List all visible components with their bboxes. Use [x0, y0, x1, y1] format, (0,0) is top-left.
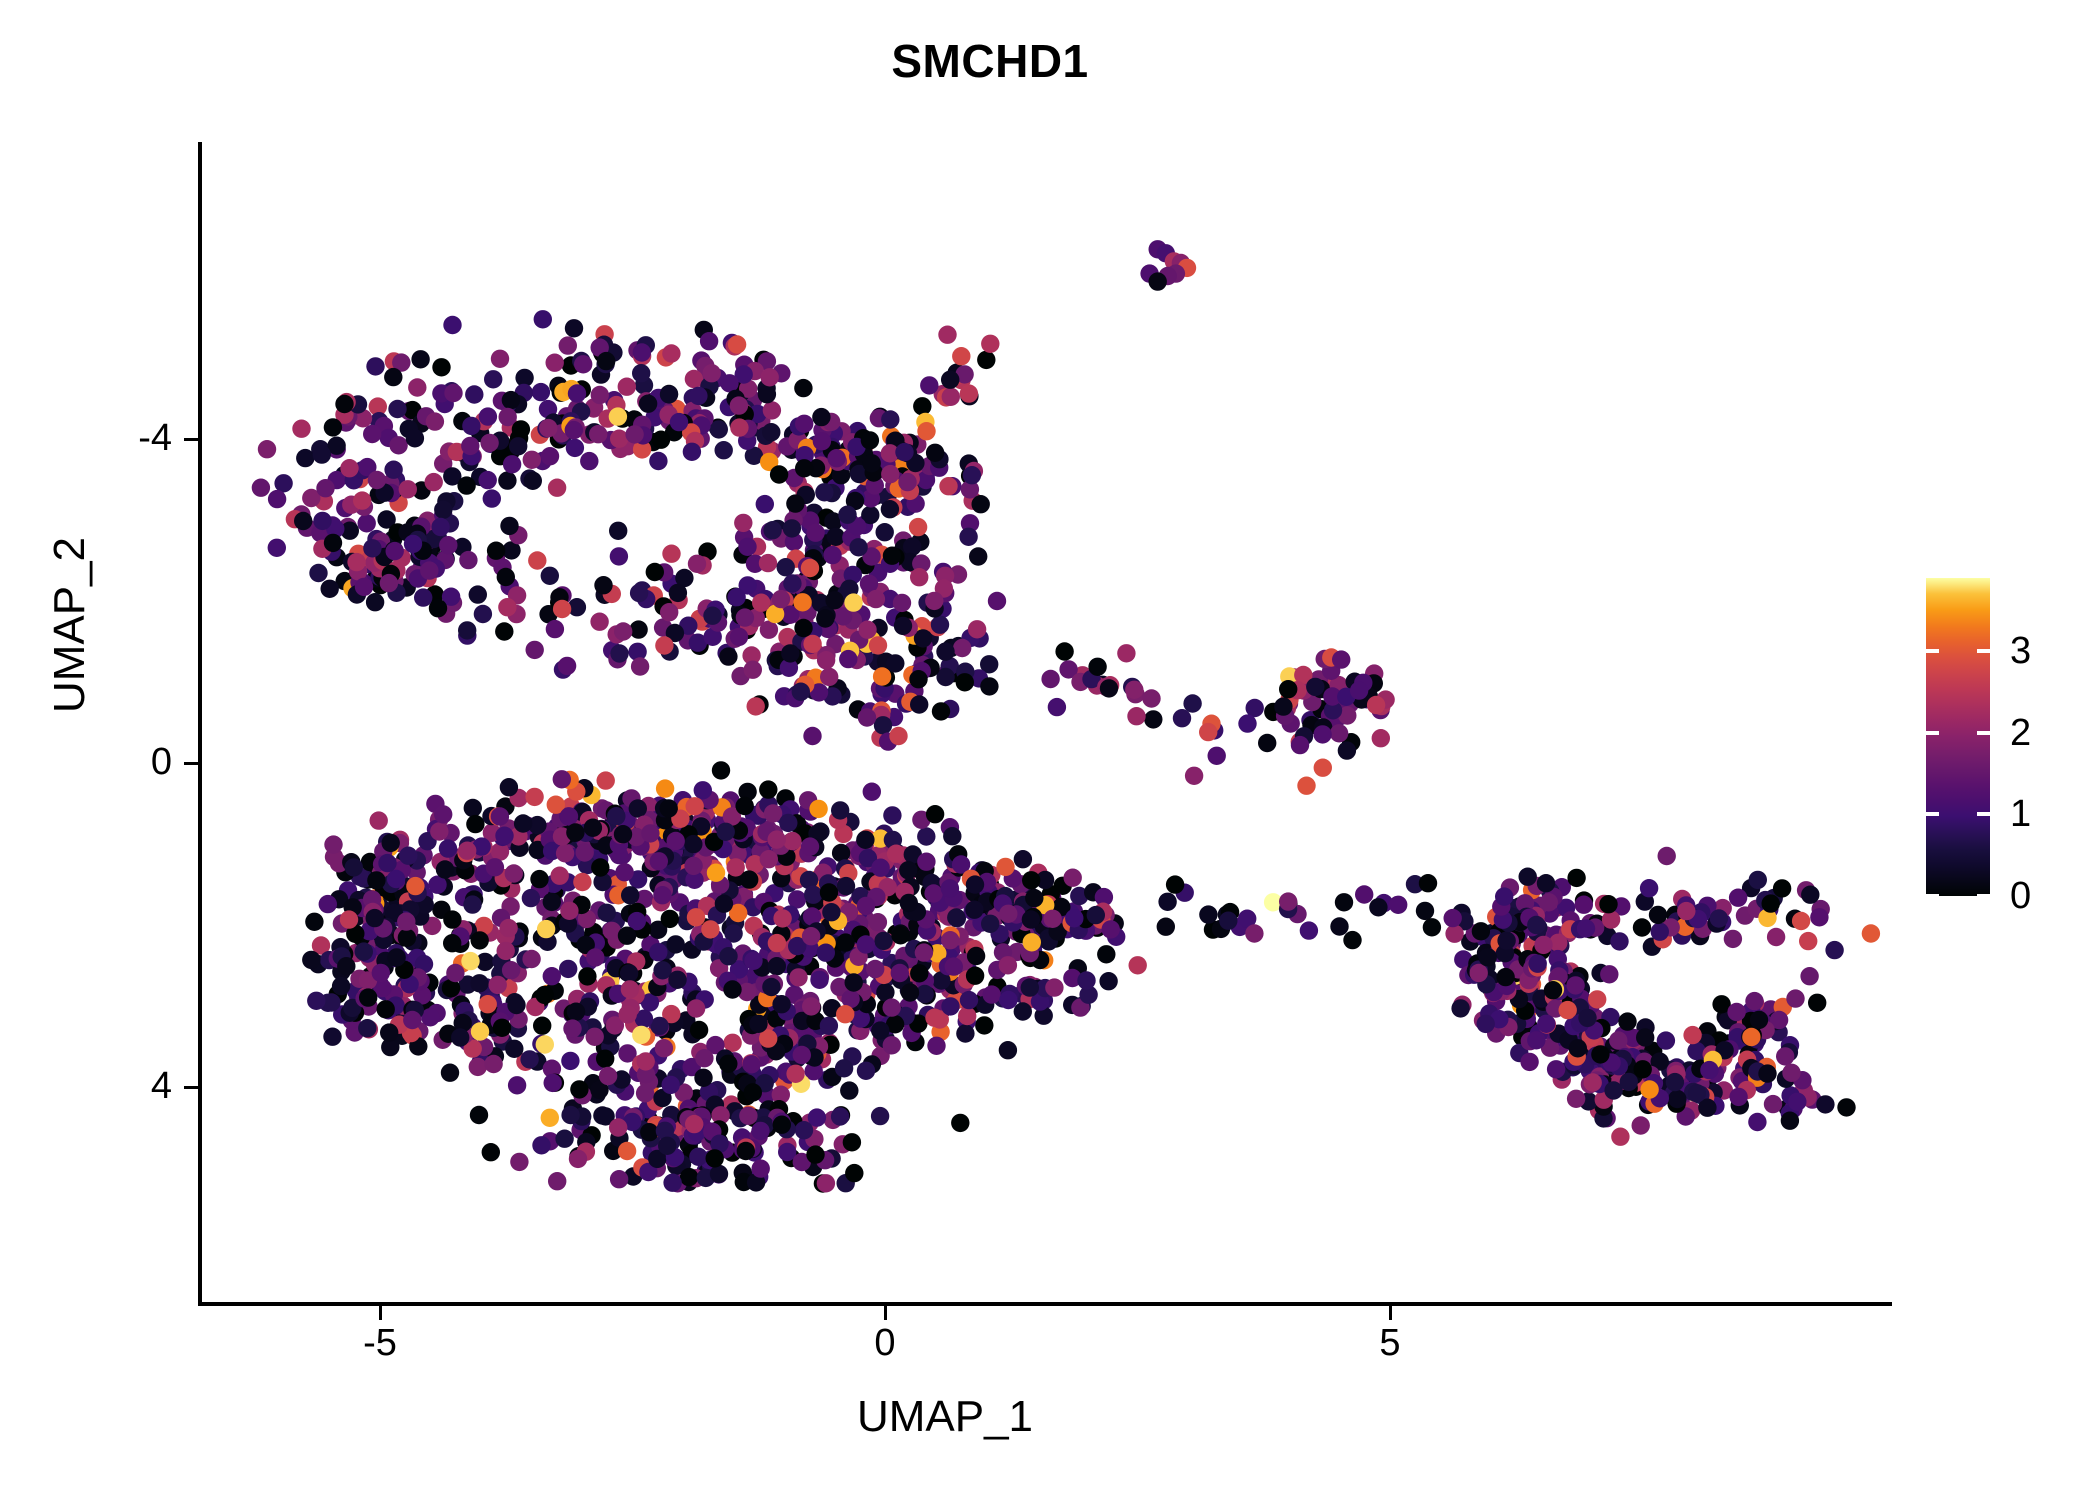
umap-feature-plot: SMCHD1 40-4-505 UMAP_1 UMAP_2 0123: [0, 0, 2100, 1500]
page-title: SMCHD1: [150, 34, 1830, 88]
x-tick-label: 0: [805, 1322, 965, 1365]
plot-panel: [200, 145, 1890, 1302]
legend-tick-mark: [1926, 731, 1939, 735]
legend-tick-label: 1: [2010, 795, 2031, 833]
y-tick-mark: [184, 438, 198, 441]
scatter-points: [200, 145, 1890, 1302]
x-tick-label: -5: [300, 1322, 460, 1365]
x-tick-mark: [379, 1306, 382, 1320]
legend-tick-mark: [1926, 894, 1939, 898]
x-axis-title: UMAP_1: [0, 1392, 1890, 1442]
x-tick-label: 5: [1310, 1322, 1470, 1365]
legend-tick-label: 3: [2010, 632, 2031, 670]
y-tick-mark: [184, 762, 198, 765]
legend-tick-mark: [1977, 649, 1990, 653]
y-tick-label: 4: [52, 1065, 172, 1108]
legend-tick-mark: [1977, 812, 1990, 816]
legend-tick-label: 2: [2010, 714, 2031, 752]
legend-tick-mark: [1977, 894, 1990, 898]
legend-tick-mark: [1926, 649, 1939, 653]
x-tick-mark: [1389, 1306, 1392, 1320]
x-axis-line: [198, 1302, 1892, 1306]
y-axis-title: UMAP_2: [45, 325, 95, 925]
color-legend-bar: [1926, 578, 1990, 896]
y-axis-line: [198, 142, 202, 1306]
y-tick-mark: [184, 1086, 198, 1089]
x-tick-mark: [884, 1306, 887, 1320]
legend-tick-label: 0: [2010, 877, 2031, 915]
color-legend: 0123: [1926, 578, 2096, 898]
legend-tick-mark: [1926, 812, 1939, 816]
legend-tick-mark: [1977, 731, 1990, 735]
